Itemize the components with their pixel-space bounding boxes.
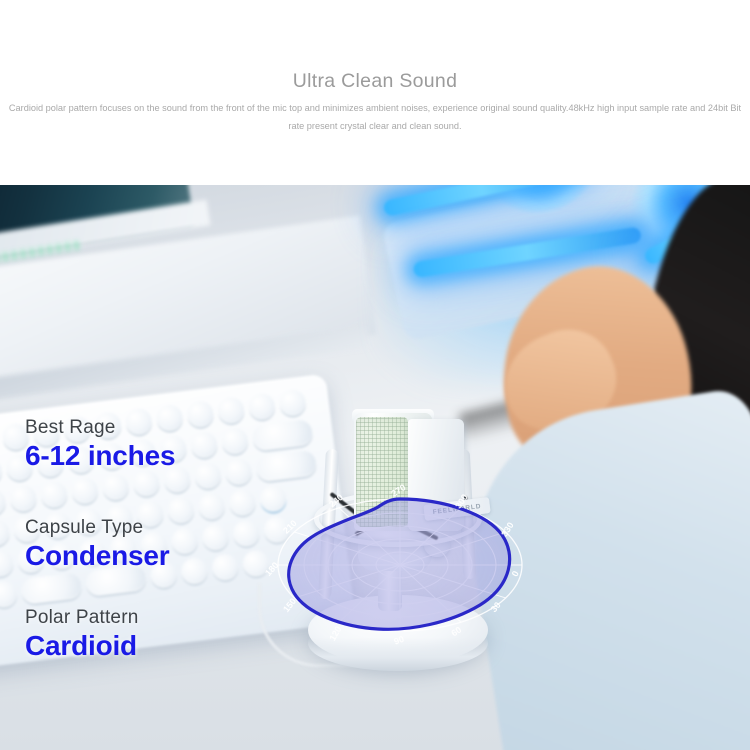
tick-label-60: 60 — [449, 625, 463, 639]
spec-label: Polar Pattern — [25, 607, 139, 629]
keyboard-spacebar — [20, 572, 83, 605]
keyboard-key — [220, 427, 249, 456]
spec-value: Condenser — [25, 539, 169, 573]
keyboard-key — [211, 553, 240, 582]
keyboard-key — [0, 488, 7, 517]
keyboard-key — [0, 580, 18, 609]
spec-best-range: Best Rage 6-12 inches — [25, 417, 175, 473]
spec-value: Cardioid — [25, 629, 139, 663]
tick-label-270: 270 — [389, 482, 407, 498]
keyboard-key — [193, 461, 222, 490]
spec-value: 6-12 inches — [25, 439, 175, 473]
header-section: Ultra Clean Sound Cardioid polar pattern… — [0, 0, 750, 185]
keyboard-key — [190, 430, 219, 459]
keyboard-key — [0, 549, 15, 578]
spec-capsule-type: Capsule Type Condenser — [25, 517, 169, 573]
keyboard-key — [9, 484, 38, 513]
polar-pattern-diagram: 0 30 60 90 120 150 180 210 240 270 300 3… — [250, 485, 550, 645]
spec-label: Capsule Type — [25, 517, 169, 539]
keyboard-key — [180, 556, 209, 585]
tick-label-330: 330 — [499, 520, 515, 538]
product-photo-stage: FEELWORLD — [0, 185, 750, 750]
polar-chart-svg: 0 30 60 90 120 150 180 210 240 270 300 3… — [250, 485, 550, 645]
keyboard-key — [70, 476, 99, 505]
tick-label-0: 0 — [510, 569, 521, 578]
keyboard-key — [224, 457, 253, 486]
keyboard-key — [101, 472, 130, 501]
keyboard-key — [247, 392, 276, 421]
keyboard-key — [166, 496, 195, 525]
tick-label-90: 90 — [393, 634, 406, 647]
keyboard-key — [217, 396, 246, 425]
keyboard-key — [0, 457, 3, 486]
keyboard-key — [170, 526, 199, 555]
keyboard-key — [278, 388, 307, 417]
keyboard-key — [201, 523, 230, 552]
page-title: Ultra Clean Sound — [0, 70, 750, 93]
keyboard-key — [197, 492, 226, 521]
tick-label-120: 120 — [327, 624, 343, 642]
page-description: Cardioid polar pattern focuses on the so… — [0, 99, 750, 135]
keyboard-key — [0, 518, 11, 547]
spec-label: Best Rage — [25, 417, 175, 439]
polar-cardioid-curve — [289, 499, 510, 629]
spec-polar-pattern: Polar Pattern Cardioid — [25, 607, 139, 663]
keyboard-key — [40, 480, 69, 509]
keyboard-key — [186, 400, 215, 429]
product-feature-image: Ultra Clean Sound Cardioid polar pattern… — [0, 0, 750, 750]
